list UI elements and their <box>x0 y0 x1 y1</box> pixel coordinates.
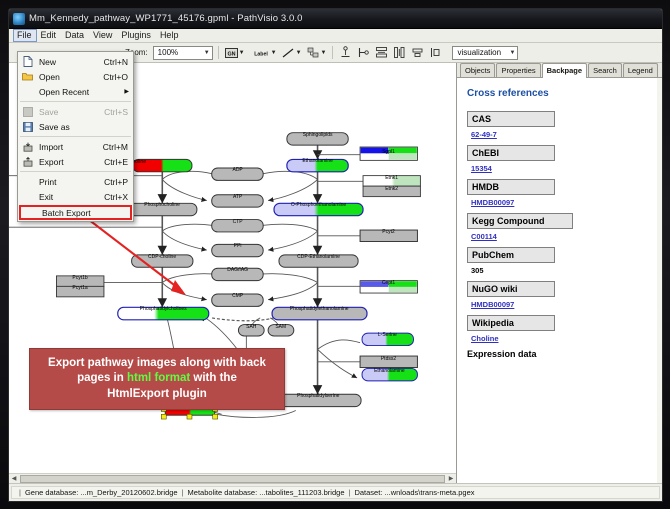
backpage-scrollbar[interactable] <box>657 78 662 483</box>
menu-item-accel: Ctrl+X <box>104 192 133 202</box>
submenu-arrow-icon: ▶ <box>124 88 133 95</box>
xref-source-label: PubChem <box>467 247 555 263</box>
canvas-horizontal-scrollbar[interactable]: ◀ ▶ <box>9 473 456 483</box>
interaction-tool-button[interactable] <box>306 45 321 60</box>
desktop-background: Mm_Kennedy_pathway_WP1771_45176.gpml - P… <box>0 0 670 509</box>
menu-item-accel: Ctrl+P <box>104 177 133 187</box>
zoom-value: 100% <box>158 48 178 57</box>
tab-properties[interactable]: Properties <box>496 63 540 77</box>
datanode-tool-button[interactable]: GN <box>224 45 239 60</box>
toolbar-separator-2 <box>332 46 333 59</box>
xref-cas: CAS 62-49-7 <box>467 111 653 139</box>
menu-item-batch-export[interactable]: Batch Export <box>19 205 132 220</box>
xref-pubchem: PubChem 305 <box>467 247 653 275</box>
annotation-text: Export pathway images along with back pa… <box>42 356 272 403</box>
annotation-line1: Export pathway images along with back <box>48 357 266 369</box>
menu-divider <box>20 171 131 172</box>
open-folder-icon <box>20 72 35 81</box>
pathvisio-window: Mm_Kennedy_pathway_WP1771_45176.gpml - P… <box>8 8 663 502</box>
xref-link-cas[interactable]: 62-49-7 <box>471 130 497 139</box>
label-tool-button[interactable]: Label <box>249 45 271 60</box>
scroll-right-icon[interactable]: ▶ <box>446 474 456 484</box>
statusbar: | Gene database: ...m_Derby_20120602.bri… <box>9 483 662 501</box>
status-dataset-value: ...wnloads\trans-meta.pgex <box>384 488 474 497</box>
xref-value: 62-49-7 <box>471 130 653 139</box>
xref-source-label: Kegg Compound <box>467 213 573 229</box>
xref-link-hmdb[interactable]: HMDB00097 <box>471 198 514 207</box>
new-document-icon <box>20 56 35 67</box>
menu-item-label: Exit <box>35 192 104 202</box>
annotation-line2a: pages in <box>77 372 127 384</box>
align-top-icon[interactable] <box>338 45 353 60</box>
status-dataset-label: Dataset: <box>354 488 382 497</box>
menu-item-label: New <box>35 57 104 67</box>
xref-source-label: ChEBI <box>467 145 555 161</box>
menu-item-label: Batch Export <box>38 208 130 218</box>
interaction-dropdown-icon[interactable]: ▼ <box>321 50 327 56</box>
annotation-highlight: html format <box>127 372 190 384</box>
zoom-combobox[interactable]: 100% ▼ <box>153 46 213 60</box>
xref-value: Choline <box>471 334 653 343</box>
menu-item-label: Import <box>35 142 103 152</box>
xref-nugo: NuGO wiki HMDB00097 <box>467 281 653 309</box>
menu-divider <box>20 101 131 102</box>
xref-link-chebi[interactable]: 15354 <box>471 164 492 173</box>
menu-item-label: Open Recent <box>35 87 124 97</box>
line-tool-button[interactable] <box>281 45 296 60</box>
datanode-dropdown-icon[interactable]: ▼ <box>239 50 245 56</box>
xref-source-label: HMDB <box>467 179 555 195</box>
status-separator: | <box>19 488 21 497</box>
status-separator: | <box>182 488 184 497</box>
visualization-value: visualization <box>457 48 501 57</box>
xref-value: C00114 <box>471 232 653 241</box>
menu-item-accel: Ctrl+M <box>103 142 133 152</box>
export-icon <box>20 157 35 167</box>
menu-item-label: Save <box>35 107 104 117</box>
chevron-down-icon: ▼ <box>510 50 516 56</box>
xref-source-label: CAS <box>467 111 555 127</box>
scroll-thumb[interactable] <box>20 475 445 483</box>
menu-item-accel: Ctrl+S <box>104 107 133 117</box>
annotation-line3: HtmlExport plugin <box>107 388 207 400</box>
menu-item-open-recent[interactable]: Open Recent ▶ <box>18 84 133 99</box>
xref-value: 305 <box>471 266 653 275</box>
annotation-callout: Export pathway images along with back pa… <box>29 348 285 410</box>
xref-link-wikipedia[interactable]: Choline <box>471 334 499 343</box>
status-separator: | <box>348 488 350 497</box>
menu-item-print[interactable]: Print Ctrl+P <box>18 174 133 189</box>
menu-item-accel: Ctrl+O <box>103 72 133 82</box>
menu-file[interactable]: File <box>13 29 37 42</box>
tab-search[interactable]: Search <box>588 63 622 77</box>
toolbar-separator <box>218 46 219 59</box>
save-disk-icon <box>20 107 35 117</box>
menu-data[interactable]: Data <box>61 29 89 42</box>
annotation-line2b: with the <box>190 372 237 384</box>
status-metabolite-db-value: ...tabolites_111203.bridge <box>259 488 344 497</box>
menu-edit[interactable]: Edit <box>37 29 62 42</box>
menu-item-accel: Ctrl+E <box>104 157 133 167</box>
distribute-horizontal-icon[interactable] <box>392 45 407 60</box>
same-height-icon[interactable] <box>428 45 443 60</box>
menu-item-label: Open <box>35 72 103 82</box>
xref-value: 15354 <box>471 164 653 173</box>
label-dropdown-icon[interactable]: ▼ <box>271 50 277 56</box>
menu-item-import[interactable]: Import Ctrl+M <box>18 139 133 154</box>
xref-chebi: ChEBI 15354 <box>467 145 653 173</box>
window-titlebar: Mm_Kennedy_pathway_WP1771_45176.gpml - P… <box>9 9 662 29</box>
align-left-icon[interactable] <box>356 45 371 60</box>
xref-wikipedia: Wikipedia Choline <box>467 315 653 343</box>
menu-item-accel: Ctrl+N <box>104 57 133 67</box>
menu-plugins[interactable]: Plugins <box>117 29 156 42</box>
menubar: File Edit Data View Plugins Help <box>9 29 662 43</box>
xref-value: HMDB00097 <box>471 300 653 309</box>
side-panel: Objects Properties Backpage Search Legen… <box>457 63 662 483</box>
menu-item-save-as[interactable]: Save as <box>18 119 133 134</box>
xref-value: HMDB00097 <box>471 198 653 207</box>
xref-link-kegg[interactable]: C00114 <box>471 232 497 241</box>
side-panel-tabs: Objects Properties Backpage Search Legen… <box>457 63 662 78</box>
svg-text:Label: Label <box>254 51 268 57</box>
menu-item-label: Export <box>35 157 104 167</box>
tab-objects[interactable]: Objects <box>460 63 495 77</box>
xref-kegg: Kegg Compound C00114 <box>467 213 653 241</box>
scroll-left-icon[interactable]: ◀ <box>9 474 19 484</box>
window-title: Mm_Kennedy_pathway_WP1771_45176.gpml - P… <box>29 13 303 24</box>
svg-text:GN: GN <box>227 51 235 57</box>
backpage-content: Cross references CAS 62-49-7 ChEBI 15354… <box>457 78 662 483</box>
same-width-icon[interactable] <box>410 45 425 60</box>
status-metabolite-db-label: Metabolite database: <box>188 488 258 497</box>
xref-link-nugo[interactable]: HMDB00097 <box>471 300 514 309</box>
cross-references-heading: Cross references <box>467 88 653 99</box>
visualization-combobox[interactable]: visualization ▼ <box>452 46 518 60</box>
menu-view[interactable]: View <box>89 29 117 42</box>
line-dropdown-icon[interactable]: ▼ <box>296 50 302 56</box>
menu-item-exit[interactable]: Exit Ctrl+X <box>18 189 133 204</box>
tab-backpage[interactable]: Backpage <box>542 63 587 78</box>
chevron-down-icon: ▼ <box>204 50 210 56</box>
menu-divider <box>20 136 131 137</box>
distribute-vertical-icon[interactable] <box>374 45 389 60</box>
menu-item-open[interactable]: Open Ctrl+O <box>18 69 133 84</box>
menu-help[interactable]: Help <box>156 29 184 42</box>
pathvisio-icon <box>13 13 25 25</box>
xref-source-label: NuGO wiki <box>467 281 555 297</box>
status-gene-db-value: ...m_Derby_20120602.bridge <box>80 488 177 497</box>
menu-item-save: Save Ctrl+S <box>18 104 133 119</box>
menu-item-new[interactable]: New Ctrl+N <box>18 54 133 69</box>
xref-hmdb: HMDB HMDB00097 <box>467 179 653 207</box>
status-gene-db-label: Gene database: <box>25 488 78 497</box>
save-as-icon <box>20 122 35 132</box>
menu-item-label: Print <box>35 177 104 187</box>
menu-item-export[interactable]: Export Ctrl+E <box>18 154 133 169</box>
menu-item-label: Save as <box>35 122 128 132</box>
tab-legend[interactable]: Legend <box>623 63 658 77</box>
import-icon <box>20 142 35 152</box>
expression-data-heading: Expression data <box>467 349 653 359</box>
xref-source-label: Wikipedia <box>467 315 555 331</box>
file-menu-dropdown[interactable]: New Ctrl+N Open Ctrl+O Open Recent ▶ <box>17 51 134 222</box>
